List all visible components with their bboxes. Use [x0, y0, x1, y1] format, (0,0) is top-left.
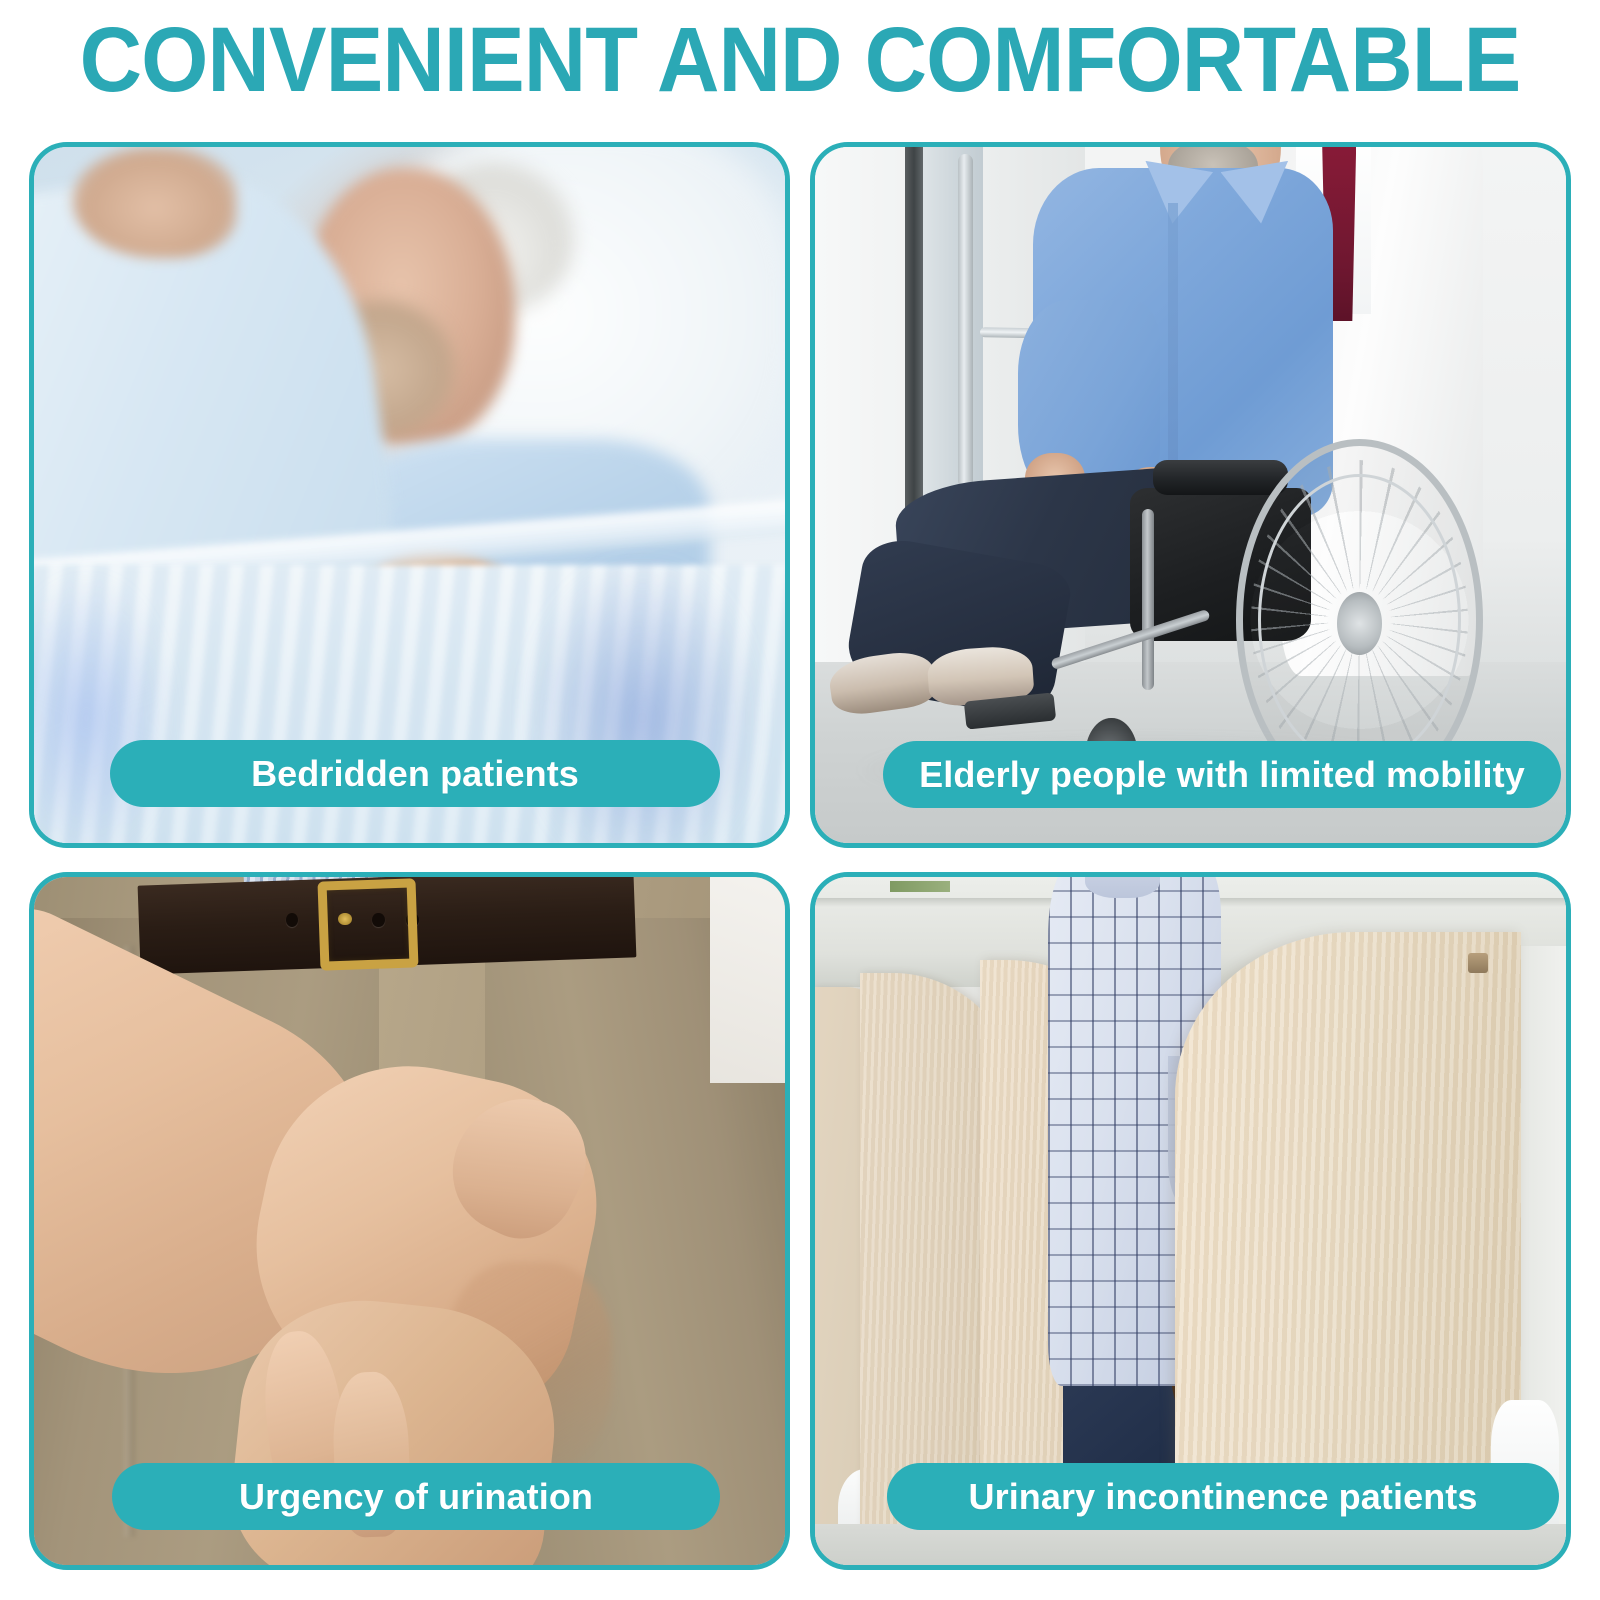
caption-pill-incontinence[interactable]: Urinary incontinence patients [887, 1463, 1559, 1530]
panel-urgency[interactable]: Urgency of urination [29, 872, 790, 1570]
caption-pill-limited-mobility[interactable]: Elderly people with limited mobility [883, 741, 1561, 808]
photo-urgency-hands [34, 877, 785, 1565]
photo-bedridden-patient [34, 147, 785, 843]
panel-incontinence[interactable]: Urinary incontinence patients [810, 872, 1571, 1570]
infographic-page: CONVENIENT AND COMFORTABLE [0, 0, 1600, 1600]
panel-grid: Bedridden patients [29, 142, 1571, 1570]
page-title: CONVENIENT AND COMFORTABLE [48, 6, 1552, 114]
panel-bedridden[interactable]: Bedridden patients [29, 142, 790, 848]
caption-pill-urgency[interactable]: Urgency of urination [112, 1463, 720, 1530]
caption-pill-bedridden[interactable]: Bedridden patients [110, 740, 720, 807]
photo-wheelchair-elderly [815, 147, 1566, 843]
photo-restroom-dividers [815, 877, 1566, 1565]
panel-limited-mobility[interactable]: Elderly people with limited mobility [810, 142, 1571, 848]
